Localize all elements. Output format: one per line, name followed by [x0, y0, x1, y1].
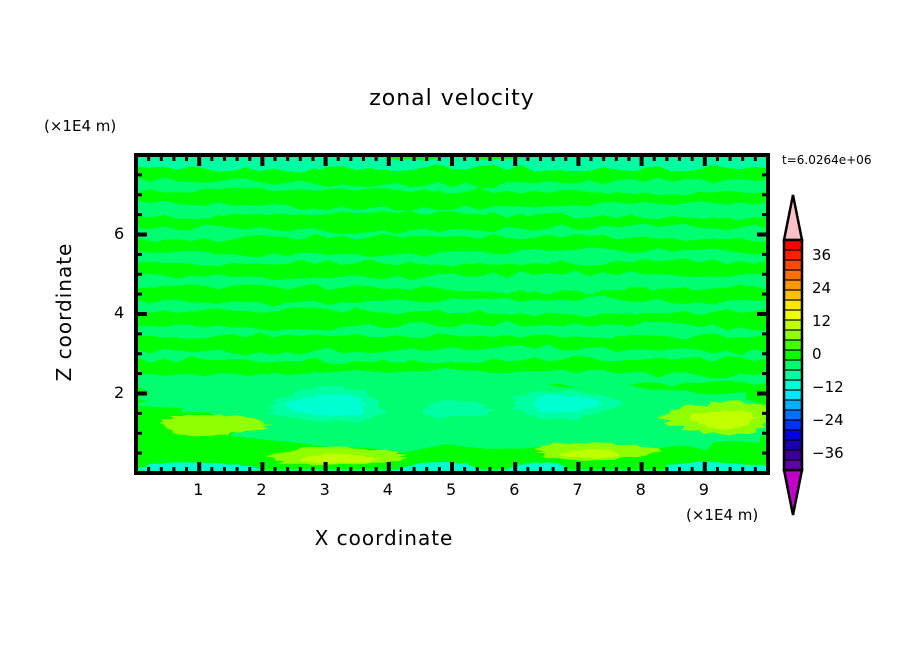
colorbar-band: [784, 380, 802, 390]
contour-field: [132, 150, 822, 480]
colorbar-under-cap: [784, 470, 802, 515]
colorbar-band: [784, 240, 802, 250]
x-tick-label: 7: [572, 480, 582, 499]
x-tick-label: 8: [636, 480, 646, 499]
colorbar-band: [784, 350, 802, 360]
y-tick-label: 6: [114, 224, 124, 243]
colorbar-band: [784, 280, 802, 290]
colorbar-band: [784, 260, 802, 270]
colorbar-band: [784, 270, 802, 280]
colorbar-band: [784, 430, 802, 440]
x-tick-label: 4: [383, 480, 393, 499]
contour-figure: zonal velocity (×1E4 m) (×1E4 m) t=6.026…: [0, 0, 904, 654]
y-tick-label: 2: [114, 383, 124, 402]
x-tick-label: 3: [320, 480, 330, 499]
colorbar-band: [784, 340, 802, 350]
colorbar-band: [784, 450, 802, 460]
colorbar-band: [784, 410, 802, 420]
x-tick-label: 2: [256, 480, 266, 499]
colorbar-band: [784, 370, 802, 380]
colorbar-band: [784, 310, 802, 320]
colorbar-band: [784, 290, 802, 300]
colorbar-band: [784, 420, 802, 430]
colorbar-band: [784, 440, 802, 450]
colorbar-tick-label: −24: [812, 411, 844, 429]
x-tick-label: 6: [509, 480, 519, 499]
colorbar-tick-label: 36: [812, 246, 831, 264]
colorbar-band: [784, 400, 802, 410]
x-tick-label: 1: [193, 480, 203, 499]
colorbar: [784, 195, 802, 515]
colorbar-band: [784, 320, 802, 330]
colorbar-band: [784, 250, 802, 260]
colorbar-band: [784, 390, 802, 400]
x-tick-label: 5: [446, 480, 456, 499]
colorbar-band: [784, 300, 802, 310]
plot-canvas: [0, 0, 904, 654]
colorbar-tick-label: 24: [812, 279, 831, 297]
colorbar-tick-label: 0: [812, 345, 822, 363]
colorbar-tick-label: −12: [812, 378, 844, 396]
colorbar-band: [784, 330, 802, 340]
y-tick-label: 4: [114, 303, 124, 322]
colorbar-band: [784, 360, 802, 370]
x-tick-label: 9: [699, 480, 709, 499]
colorbar-tick-label: −36: [812, 444, 844, 462]
colorbar-tick-label: 12: [812, 312, 831, 330]
colorbar-over-cap: [784, 195, 802, 240]
